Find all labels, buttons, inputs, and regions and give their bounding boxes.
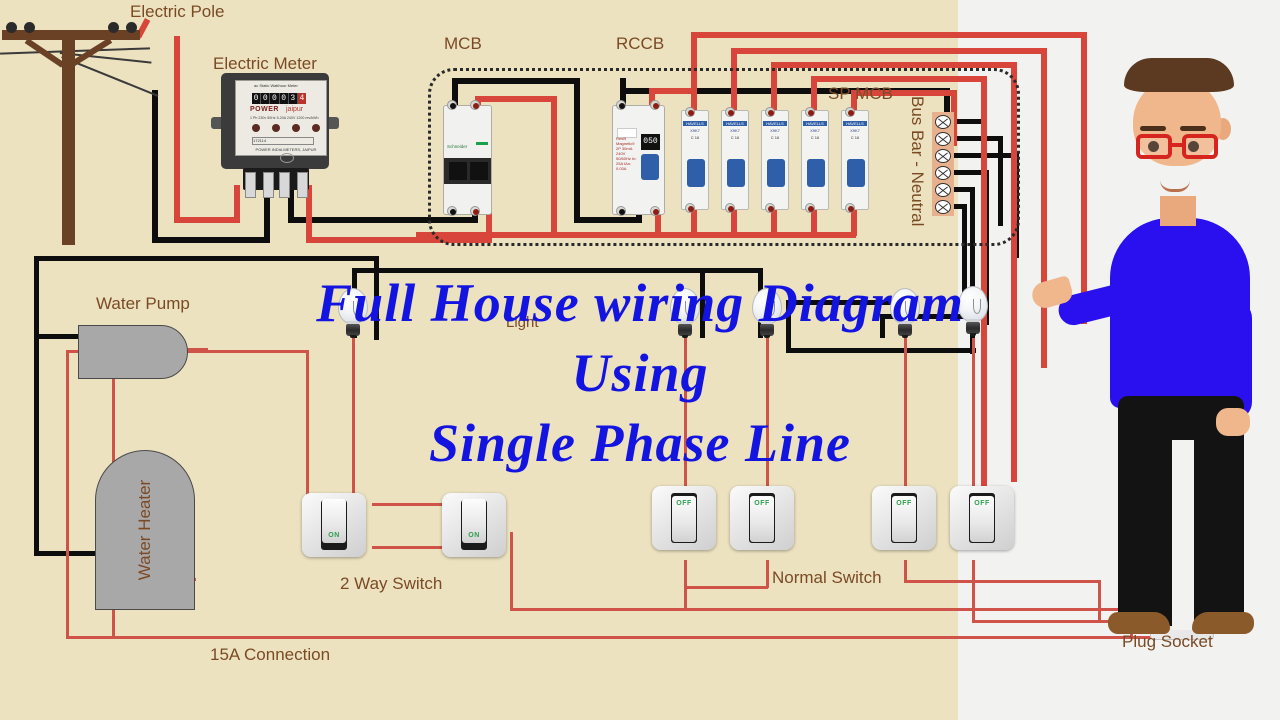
sp-mcb-5-term-bot xyxy=(845,203,855,213)
sp-mcb-rating: C 16 xyxy=(723,135,747,140)
sp-mcb-5-term-top xyxy=(845,107,855,117)
label-two-way-switch: 2 Way Switch xyxy=(340,574,442,594)
sp-mcb-1[interactable]: HAVELLS X9K7 C 16 xyxy=(681,110,709,210)
wire-live-pole-to-meter xyxy=(174,217,240,223)
wire-2way-out xyxy=(510,532,513,610)
switch-rocker[interactable]: ON xyxy=(322,499,346,543)
bulb-tip xyxy=(764,335,770,338)
sp-mcb-rating: C 16 xyxy=(803,135,827,140)
sp-mcb-rating: C 16 xyxy=(843,135,867,140)
electric-pole-crossarm xyxy=(2,30,140,40)
bulb-tip xyxy=(682,335,688,338)
normal-switch-4[interactable]: OFF xyxy=(950,486,1014,550)
sp-mcb-model: X9K7 xyxy=(683,128,707,133)
title-line-3: Single Phase Line xyxy=(0,412,1280,474)
character-shoe-right xyxy=(1192,612,1254,634)
meter-indicator xyxy=(252,124,260,132)
wire-live-pole-down xyxy=(174,36,180,222)
wire-nsw2-down xyxy=(766,560,769,588)
switch-rocker[interactable]: ON xyxy=(462,499,486,543)
meter-indicator xyxy=(292,124,300,132)
wire-nsw3-h xyxy=(904,580,1100,583)
label-mcb: MCB xyxy=(444,34,482,54)
wire-nsw4-down xyxy=(972,560,975,622)
sp-mcb-brand: HAVELLS xyxy=(683,121,707,126)
label-electric-pole: Electric Pole xyxy=(130,2,224,22)
sp-mcb-4[interactable]: HAVELLS X9K7 C 16 xyxy=(801,110,829,210)
wire-neutral-to-pump xyxy=(34,334,84,339)
character-eyebrow-right xyxy=(1180,126,1206,131)
character-shoe-left xyxy=(1108,612,1170,634)
switch-rocker[interactable]: OFF xyxy=(672,496,696,542)
busbar-terminal-4 xyxy=(935,166,951,180)
label-bus-bar: Bus Bar - Neutral xyxy=(907,96,927,226)
sp-mcb-2[interactable]: HAVELLS X9K7 C 16 xyxy=(721,110,749,210)
sp-mcb-2-term-top xyxy=(725,107,735,117)
sp-mcb-rating: C 16 xyxy=(763,135,787,140)
meter-terminal-3 xyxy=(279,172,290,198)
rccb-terminal-bot-left xyxy=(616,206,626,216)
sp-mcb-brand: HAVELLS xyxy=(803,121,827,126)
rccb-terminal-bot-right xyxy=(650,206,660,216)
sp-mcb-toggle[interactable] xyxy=(767,159,785,187)
wire-neutral-pole-to-meter xyxy=(152,237,270,243)
sp-mcb-1-term-bot xyxy=(685,203,695,213)
two-way-switch-2[interactable]: ON xyxy=(442,493,506,557)
wire-neutral-top-trunk xyxy=(34,256,379,261)
meter-terminal-4 xyxy=(297,172,308,198)
meter-digit: 4 xyxy=(298,93,306,104)
busbar-terminal-2 xyxy=(935,132,951,146)
sp-mcb-1-term-top xyxy=(685,107,695,117)
electric-pole-brace-right xyxy=(70,38,112,67)
wire-nsw3-down xyxy=(904,560,907,582)
busbar-terminal-6 xyxy=(935,200,951,214)
switch-state-label: OFF xyxy=(892,500,916,507)
sp-mcb-4-term-top xyxy=(805,107,815,117)
character-glasses-right xyxy=(1182,134,1218,159)
meter-body: ac Static Watthour Meter 0 0 0 0 3 4 POW… xyxy=(221,73,329,169)
mcb-brand-label: Schneider xyxy=(447,144,467,149)
water-heater[interactable]: Water Heater xyxy=(95,450,195,610)
label-electric-meter: Electric Meter xyxy=(213,54,317,74)
mcb-toggle-2[interactable] xyxy=(470,162,488,180)
sp-mcb-3-term-bot xyxy=(765,203,775,213)
rccb-terminal-top-left xyxy=(616,100,626,110)
insulator-1 xyxy=(6,22,17,33)
busbar-terminal-1 xyxy=(935,115,951,129)
switch-state-label: OFF xyxy=(970,500,994,507)
rccb-lever[interactable] xyxy=(641,154,659,180)
character-glasses-left xyxy=(1136,134,1172,159)
title-line-1: Full House wiring Diagram xyxy=(0,272,1280,334)
meter-brand-script: jaipur xyxy=(286,106,303,113)
meter-digit: 3 xyxy=(289,93,298,104)
normal-switch-1[interactable]: OFF xyxy=(652,486,716,550)
meter-indicator xyxy=(312,124,320,132)
character-neck xyxy=(1160,196,1196,226)
meter-indicator xyxy=(272,124,280,132)
meter-brand: POWER xyxy=(250,106,279,113)
sp-mcb-model: X9K7 xyxy=(803,128,827,133)
character-eyebrow-left xyxy=(1140,126,1166,131)
meter-seal xyxy=(280,153,294,163)
wiring-diagram-canvas: Electric Pole Electric Meter ac Static W… xyxy=(0,0,1280,720)
rccb-rating-window: 050 xyxy=(641,134,660,150)
insulator-2 xyxy=(24,22,35,33)
switch-state-label: OFF xyxy=(750,500,774,507)
sp-mcb-brand: HAVELLS xyxy=(763,121,787,126)
wire-live-rail-2 xyxy=(731,48,1047,54)
sp-mcb-toggle[interactable] xyxy=(687,159,705,187)
character-glasses-bridge xyxy=(1172,143,1184,147)
label-sp-mcb: SP MCB xyxy=(828,84,893,104)
label-water-heater: Water Heater xyxy=(135,480,155,580)
character-hair xyxy=(1124,58,1234,92)
rccb-spec-text: Resi9 Magnetic9 2P 30mA 240V 50/60Hz In:… xyxy=(616,136,640,178)
normal-switch-2[interactable]: OFF xyxy=(730,486,794,550)
switch-state-label: ON xyxy=(322,532,346,539)
label-rccb: RCCB xyxy=(616,34,664,54)
bulb-tip xyxy=(902,335,908,338)
mcb-green-stripe xyxy=(476,142,488,145)
bulb-tip xyxy=(350,335,356,338)
wire-live-top-rail xyxy=(691,32,1087,38)
meter-terminal-1 xyxy=(245,172,256,198)
switch-state-label: ON xyxy=(462,532,486,539)
mcb-terminal-top-left xyxy=(447,100,457,110)
busbar-terminal-3 xyxy=(935,149,951,163)
switch-state-label: OFF xyxy=(672,500,696,507)
meter-digit-display: 0 0 0 0 3 4 xyxy=(252,93,306,104)
insulator-4 xyxy=(126,22,137,33)
label-plug-socket: Plug Socket xyxy=(1122,632,1213,652)
label-normal-switch: Normal Switch xyxy=(772,568,882,588)
sp-mcb-4-term-bot xyxy=(805,203,815,213)
meter-digit: 0 xyxy=(261,93,270,104)
sp-mcb-toggle[interactable] xyxy=(807,159,825,187)
insulator-3 xyxy=(108,22,119,33)
sp-mcb-model: X9K7 xyxy=(763,128,787,133)
sp-mcb-3[interactable]: HAVELLS X9K7 C 16 xyxy=(761,110,789,210)
switch-rocker[interactable]: OFF xyxy=(750,496,774,542)
switch-rocker[interactable]: OFF xyxy=(892,496,916,542)
switch-rocker[interactable]: OFF xyxy=(970,496,994,542)
sp-mcb-model: X9K7 xyxy=(723,128,747,133)
mcb-toggle-1[interactable] xyxy=(449,162,467,180)
sp-mcb-2-term-bot xyxy=(725,203,735,213)
wire-nsw1-down xyxy=(684,560,687,608)
sp-mcb-rating: C 16 xyxy=(683,135,707,140)
wire-nsw1-h xyxy=(684,586,768,589)
meter-terminal-2 xyxy=(263,172,274,198)
meter-serial: 172114 xyxy=(252,137,314,145)
meter-face: ac Static Watthour Meter 0 0 0 0 3 4 POW… xyxy=(235,80,327,156)
meter-indicator-row xyxy=(250,124,322,134)
label-15a-connection: 15A Connection xyxy=(210,645,330,665)
wire-live-15a-bottom xyxy=(66,636,1166,639)
wire-2way-traveler-1 xyxy=(372,503,442,506)
meter-footer-text: POWER INDIA METERS, JAIPUR xyxy=(248,147,324,152)
busbar-terminal-5 xyxy=(935,183,951,197)
mcb-terminal-top-right xyxy=(470,100,480,110)
title-line-2: Using xyxy=(0,342,1280,404)
mcb-terminal-bot-right xyxy=(470,206,480,216)
mcb-double-pole[interactable]: Schneider xyxy=(443,105,492,215)
sp-mcb-brand: HAVELLS xyxy=(723,121,747,126)
wire-2way-traveler-2 xyxy=(372,546,442,549)
sp-mcb-toggle[interactable] xyxy=(847,159,865,187)
wire-nsw3-riser xyxy=(1098,580,1101,622)
rccb-device[interactable]: Resi9 Magnetic9 2P 30mA 240V 50/60Hz In:… xyxy=(612,105,665,215)
sp-mcb-5[interactable]: HAVELLS X9K7 C 16 xyxy=(841,110,869,210)
sp-mcb-brand: HAVELLS xyxy=(843,121,867,126)
rccb-terminal-top-right xyxy=(650,100,660,110)
wire-neutral-pole-down xyxy=(152,90,158,243)
normal-switch-3[interactable]: OFF xyxy=(872,486,936,550)
two-way-switch-1[interactable]: ON xyxy=(302,493,366,557)
meter-digit: 0 xyxy=(270,93,279,104)
mcb-terminal-bot-left xyxy=(447,206,457,216)
meter-spec-row: 1 Ph 230v 50Hz 5-20A 240V 1200 rev/kWh xyxy=(250,116,324,122)
meter-top-text: ac Static Watthour Meter xyxy=(254,83,320,89)
wire-2way-out-bottom xyxy=(510,608,1170,611)
sp-mcb-model: X9K7 xyxy=(843,128,867,133)
meter-digit: 0 xyxy=(280,93,289,104)
bus-bar-neutral[interactable] xyxy=(932,112,954,216)
electric-meter[interactable]: ac Static Watthour Meter 0 0 0 0 3 4 POW… xyxy=(215,73,335,198)
sp-mcb-3-term-top xyxy=(765,107,775,117)
meter-digit: 0 xyxy=(252,93,261,104)
sp-mcb-toggle[interactable] xyxy=(727,159,745,187)
